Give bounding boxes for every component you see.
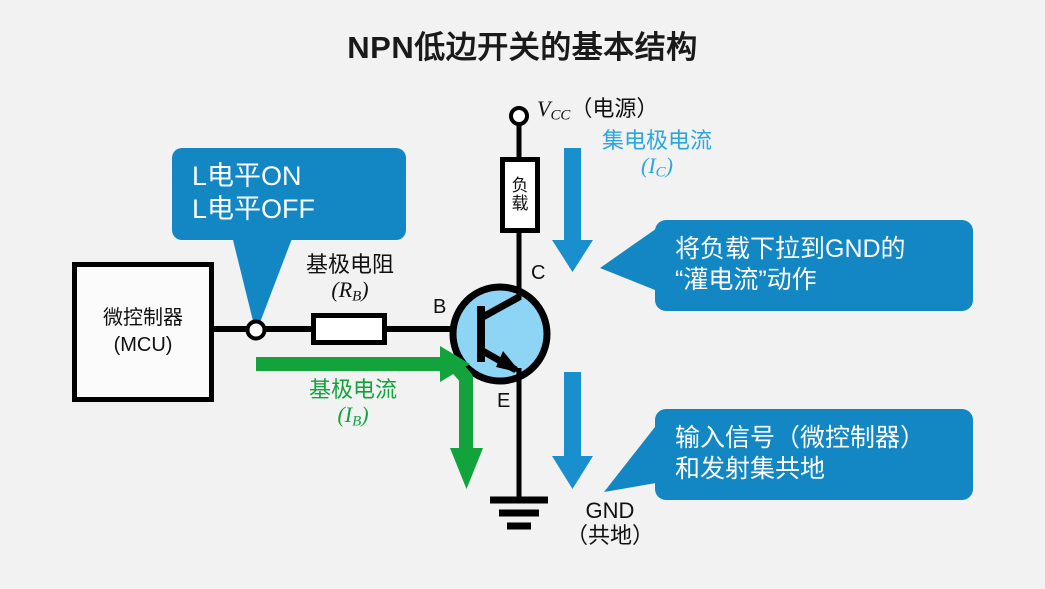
vcc-label: VCC（电源） [537, 96, 658, 124]
vcc-terminal-node [511, 108, 527, 124]
load-label-char1: 负 [512, 177, 529, 195]
base-current-arrow-down [450, 362, 483, 489]
load-block: 负 载 [500, 157, 540, 233]
callout-right-bottom-tail [604, 418, 662, 492]
diagram-canvas: NPN低边开关的基本结构 [0, 0, 1045, 589]
load-label-char2: 载 [512, 195, 529, 213]
mcu-label-line2: (MCU) [114, 332, 173, 359]
resistor-var: R [339, 277, 352, 302]
mcu-block: 微控制器 (MCU) [72, 262, 214, 402]
base-resistor-name: 基极电阻 [288, 252, 412, 277]
mcu-label-line1: 微控制器 [103, 305, 183, 332]
ic-subscript: C [656, 165, 666, 181]
base-current-name: 基极电流 [288, 377, 418, 402]
base-current-label: 基极电流 (IB) [288, 377, 418, 431]
ib-subscript: B [352, 414, 361, 430]
ground-reference-arrow [552, 372, 593, 489]
resistor-paren-open: ( [331, 277, 338, 302]
ib-paren-close: ) [361, 402, 368, 427]
callout-left-tail [230, 228, 296, 333]
collector-terminal-label: C [531, 262, 545, 285]
vcc-note: （电源） [570, 96, 658, 121]
vcc-subscript: CC [550, 107, 570, 123]
vcc-var: V [537, 96, 550, 121]
mcu-output-node [248, 322, 265, 339]
base-resistor-label: 基极电阻 (RB) [288, 252, 412, 306]
ib-var: I [345, 402, 352, 427]
ib-paren-open: ( [337, 402, 344, 427]
ic-paren-close: ) [666, 153, 673, 178]
base-resistor-symbol [311, 313, 387, 345]
callout-right-top-tail [600, 226, 660, 292]
ground-label-line1: GND [562, 498, 658, 523]
ic-var: I [648, 153, 655, 178]
base-current-symbol: (IB) [288, 402, 418, 430]
base-resistor-symbol-text: (RB) [288, 277, 412, 305]
ground-label-line2: （共地） [562, 523, 658, 548]
callout-sink-current: 将负载下拉到GND的 “灌电流”动作 [655, 220, 973, 311]
collector-current-arrow [552, 148, 593, 272]
collector-current-name: 集电极电流 [592, 128, 722, 153]
ground-label: GND （共地） [562, 498, 658, 549]
callout-left-logic-level: L电平ON L电平OFF [172, 148, 406, 240]
callout-input-signal-ground: 输入信号（微控制器） 和发射集共地 [655, 409, 973, 500]
collector-current-symbol: (IC) [592, 153, 722, 181]
base-terminal-label: B [433, 296, 446, 319]
collector-current-label: 集电极电流 (IC) [592, 128, 722, 182]
resistor-subscript: B [352, 289, 361, 305]
resistor-paren-close: ) [361, 277, 368, 302]
emitter-terminal-label: E [497, 390, 510, 413]
